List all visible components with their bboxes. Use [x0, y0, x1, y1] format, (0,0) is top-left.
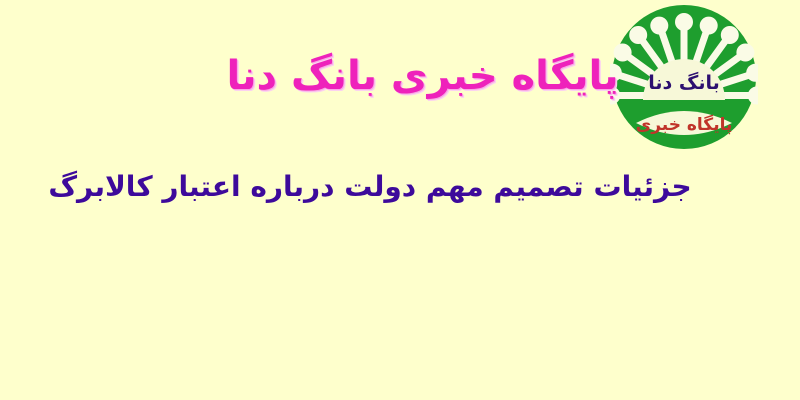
news-banner-page: بانگ دنا پایگاه خبری پایگاه خبری بانگ دن…	[0, 0, 800, 400]
article-headline: جزئیات تصمیم مهم دولت درباره اعتبار کالا…	[0, 166, 740, 208]
logo-bottom-text: پایگاه خبری	[636, 114, 733, 135]
site-title: پایگاه خبری بانگ دنا	[0, 48, 800, 104]
article-body-area	[0, 220, 800, 400]
